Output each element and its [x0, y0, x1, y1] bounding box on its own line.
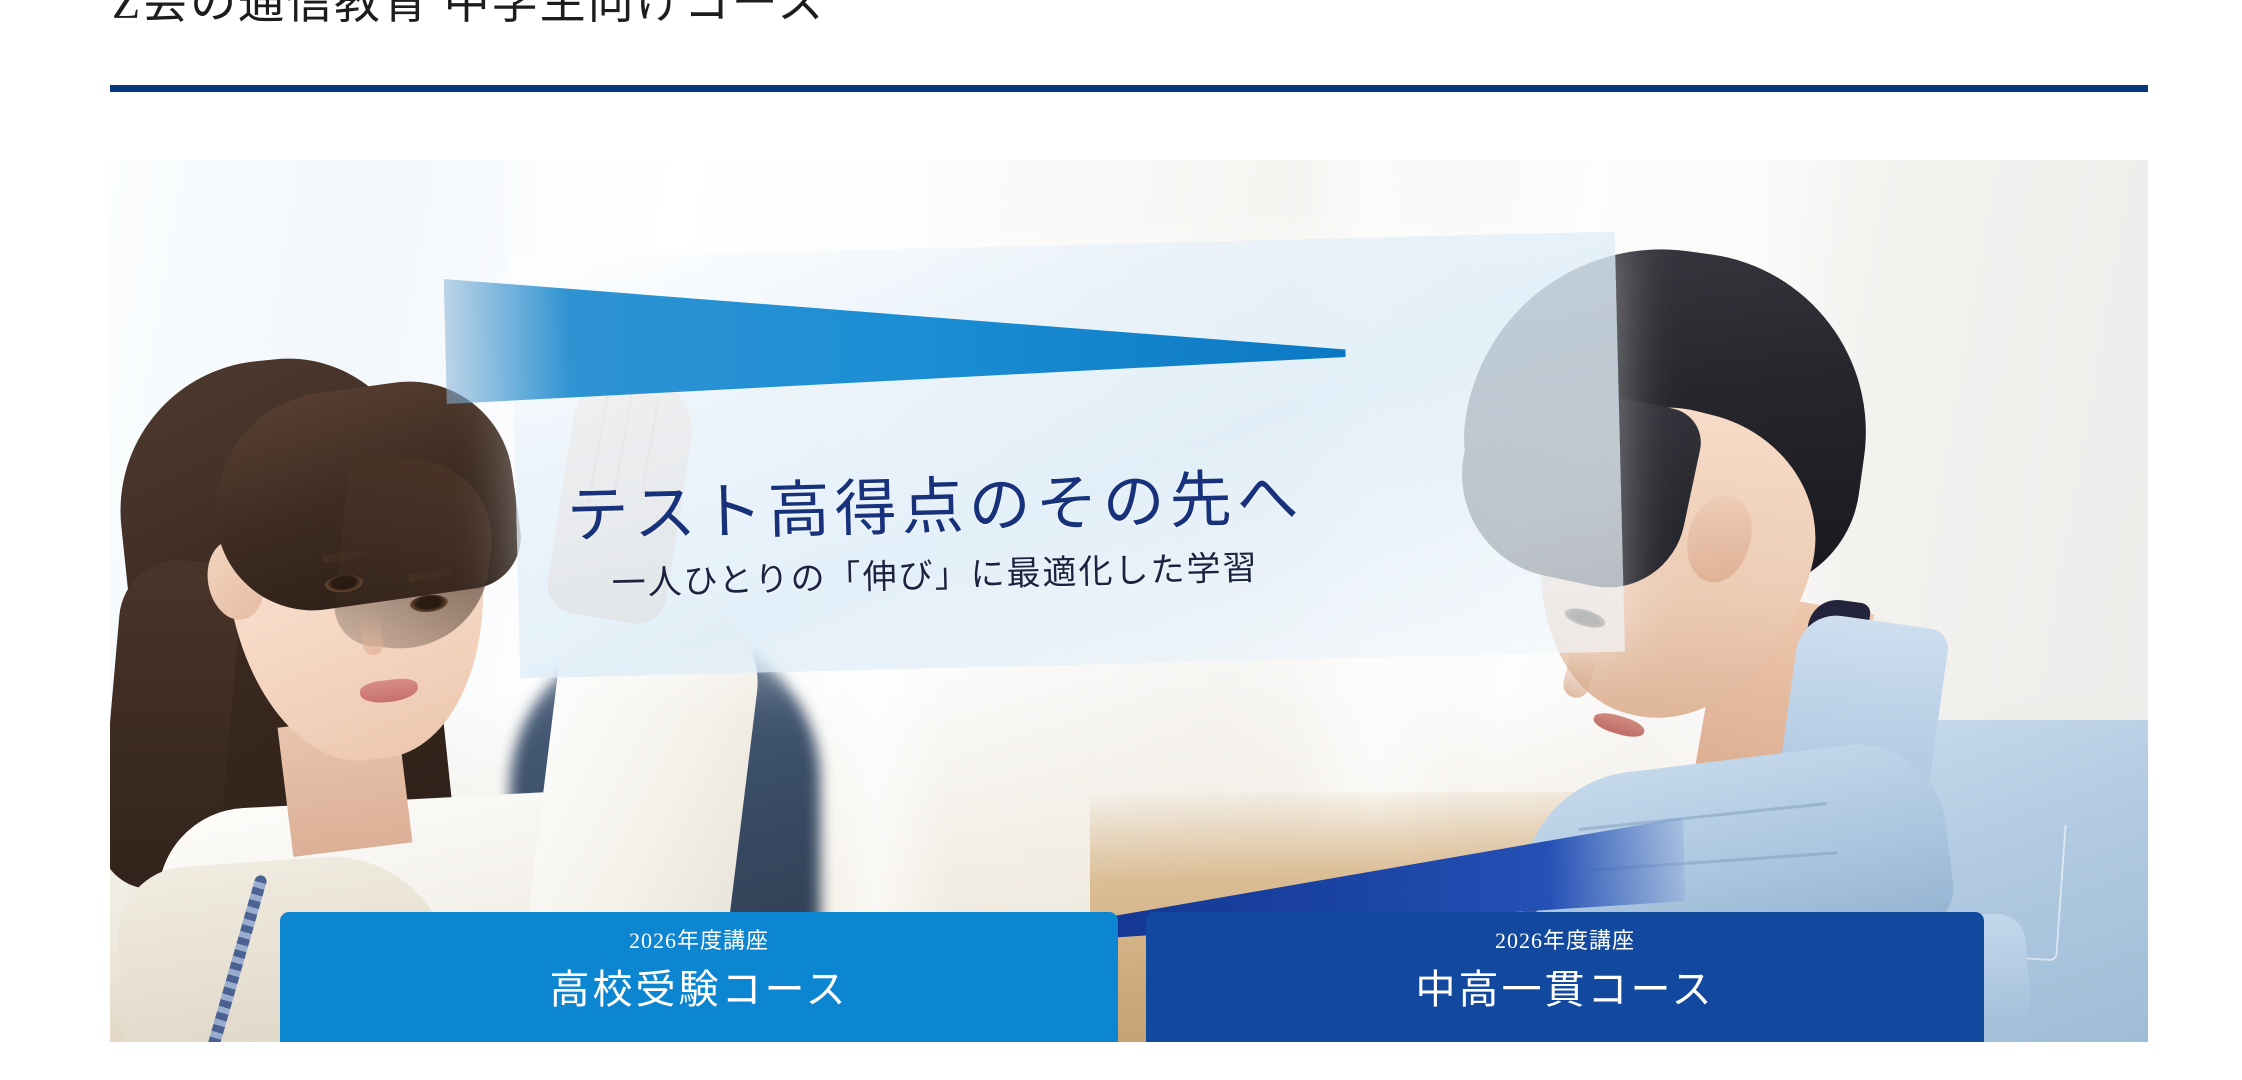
page-title: Z会の通信教育 中学生向けコース [112, 0, 825, 32]
course-card-year: 2026年度講座 [629, 930, 769, 952]
hero-banner: テスト高得点のその先へ 一人ひとりの「伸び」に最適化した学習 2026年度講座 … [110, 160, 2148, 1042]
girl-nose [360, 614, 384, 656]
course-card-name: 中高一貫コース [1416, 970, 1715, 1010]
course-card-chuukou-ikkan[interactable]: 2026年度講座 中高一貫コース [1146, 912, 1984, 1042]
course-card-year: 2026年度講座 [1495, 930, 1635, 952]
course-card-koukou-juken[interactable]: 2026年度講座 高校受験コース [280, 912, 1118, 1042]
page-header: Z会の通信教育 中学生向けコース [0, 0, 2242, 95]
course-card-name: 高校受験コース [550, 970, 849, 1010]
header-divider-rule [110, 85, 2148, 92]
